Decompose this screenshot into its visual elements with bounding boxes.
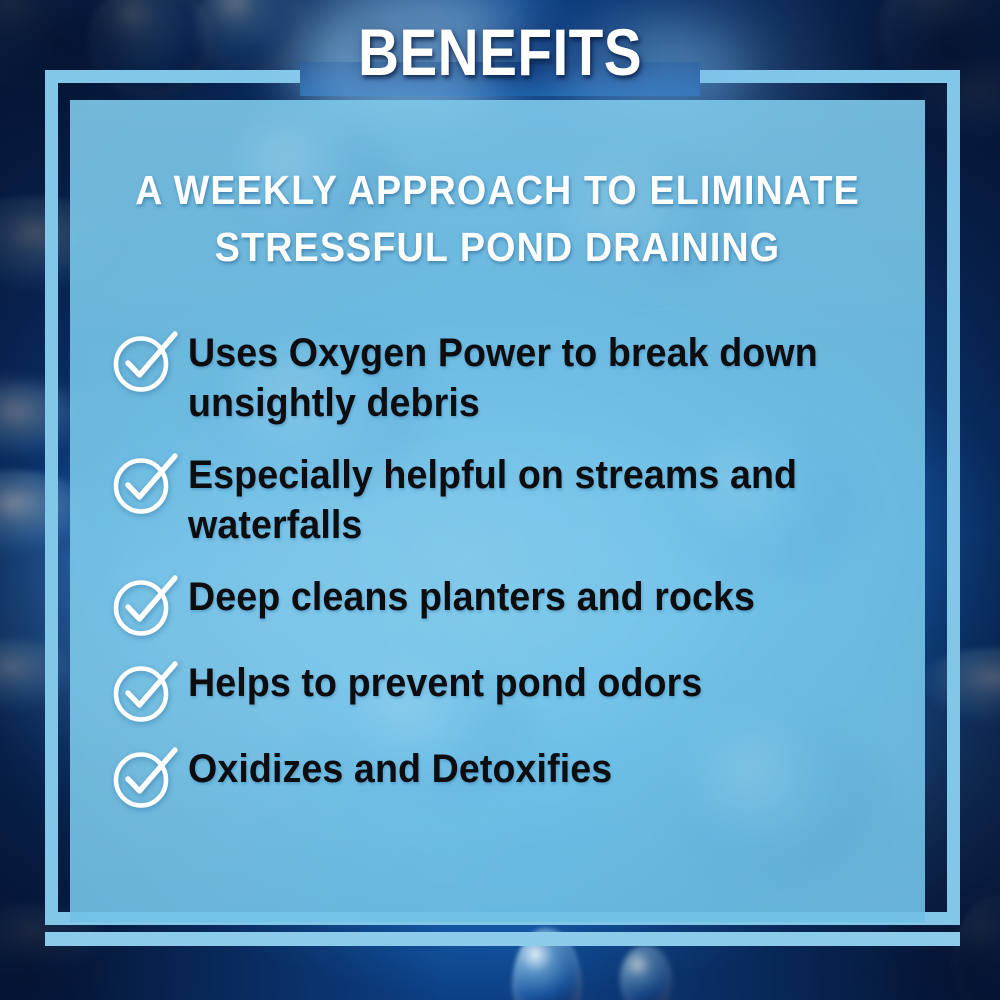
list-item-label: Especially helpful on streams and waterf… (188, 450, 837, 550)
list-item: Helps to prevent pond odors (108, 658, 895, 722)
subtitle-line-1: A WEEKLY APPROACH TO ELIMINATE (104, 162, 891, 219)
list-item: Deep cleans planters and rocks (108, 572, 895, 636)
check-circle-icon (108, 330, 182, 392)
subtitle-line-2: STRESSFUL POND DRAINING (104, 219, 891, 276)
list-item: Uses Oxygen Power to break down unsightl… (108, 328, 895, 428)
check-circle-icon (108, 574, 182, 636)
list-item: Especially helpful on streams and waterf… (108, 450, 895, 550)
page-title: BENEFITS (70, 14, 930, 90)
check-circle-icon (108, 746, 182, 808)
panel-subtitle: A WEEKLY APPROACH TO ELIMINATE STRESSFUL… (104, 162, 891, 276)
list-item-label: Deep cleans planters and rocks (188, 572, 755, 622)
frame-bottom-bar (45, 932, 960, 946)
benefits-panel: A WEEKLY APPROACH TO ELIMINATE STRESSFUL… (70, 100, 925, 922)
list-item-label: Helps to prevent pond odors (188, 658, 702, 708)
benefits-infographic: BENEFITS A WEEKLY APPROACH TO ELIMINATE … (0, 0, 1000, 1000)
list-item-label: Oxidizes and Detoxifies (188, 744, 612, 794)
benefits-list: Uses Oxygen Power to break down unsightl… (108, 328, 895, 808)
list-item: Oxidizes and Detoxifies (108, 744, 895, 808)
check-circle-icon (108, 660, 182, 722)
list-item-label: Uses Oxygen Power to break down unsightl… (188, 328, 837, 428)
check-circle-icon (108, 452, 182, 514)
